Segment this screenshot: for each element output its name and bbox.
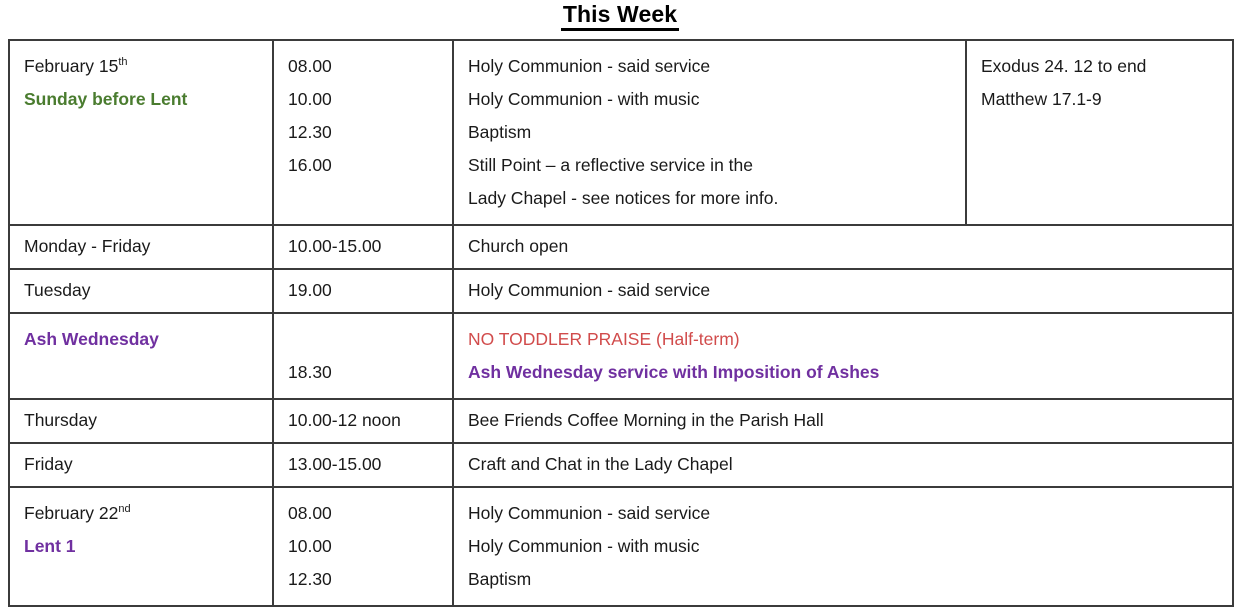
event-line: Still Point – a reflective service in th…: [468, 149, 965, 182]
event-line: Baptism: [468, 563, 1232, 596]
day-line-season: Ash Wednesday: [24, 323, 272, 356]
event-cell: Bee Friends Coffee Morning in the Parish…: [453, 399, 1233, 443]
table-row: Monday - Friday 10.00-15.00 Church open: [9, 225, 1233, 269]
time-cell: 10.00-12 noon: [273, 399, 453, 443]
day-cell: Tuesday: [9, 269, 273, 313]
time-line: 10.00: [288, 530, 452, 563]
event-line: Church open: [468, 231, 1232, 262]
event-line: Holy Communion - said service: [468, 50, 965, 83]
schedule-table-body: February 15th Sunday before Lent 08.00 1…: [9, 40, 1233, 606]
day-cell: Monday - Friday: [9, 225, 273, 269]
time-line-blank: [288, 323, 452, 356]
time-line: 18.30: [288, 356, 452, 389]
day-line: Friday: [24, 449, 272, 480]
table-row: Ash Wednesday 18.30 NO TODDLER PRAISE (H…: [9, 313, 1233, 399]
event-line-notice: NO TODDLER PRAISE (Half-term): [468, 323, 1232, 356]
time-line: 10.00: [288, 83, 452, 116]
day-line: Thursday: [24, 405, 272, 436]
event-line: Lady Chapel - see notices for more info.: [468, 182, 965, 215]
reading-line: Matthew 17.1-9: [981, 83, 1232, 116]
reading-cell: Exodus 24. 12 to end Matthew 17.1-9: [966, 40, 1233, 225]
event-cell: Holy Communion - said service Holy Commu…: [453, 487, 1233, 606]
time-line: 08.00: [288, 497, 452, 530]
time-cell: 10.00-15.00: [273, 225, 453, 269]
time-cell: 08.00 10.00 12.30: [273, 487, 453, 606]
table-row: February 15th Sunday before Lent 08.00 1…: [9, 40, 1233, 225]
day-cell: Friday: [9, 443, 273, 487]
day-line: Monday - Friday: [24, 231, 272, 262]
event-line: Baptism: [468, 116, 965, 149]
time-cell: 13.00-15.00: [273, 443, 453, 487]
day-line: February 15th: [24, 50, 272, 83]
ordinal-suffix: nd: [118, 503, 130, 515]
event-line: Holy Communion - said service: [468, 497, 1232, 530]
day-line: February 22nd: [24, 497, 272, 530]
event-line: Holy Communion - said service: [468, 275, 1232, 306]
day-cell: February 22nd Lent 1: [9, 487, 273, 606]
table-row: Tuesday 19.00 Holy Communion - said serv…: [9, 269, 1233, 313]
event-cell: Church open: [453, 225, 1233, 269]
time-cell: 18.30: [273, 313, 453, 399]
ordinal-suffix: th: [118, 56, 127, 68]
time-line: 10.00-12 noon: [288, 405, 452, 436]
table-row: February 22nd Lent 1 08.00 10.00 12.30 H…: [9, 487, 1233, 606]
event-line: Holy Communion - with music: [468, 83, 965, 116]
day-cell: Thursday: [9, 399, 273, 443]
page-title: This Week: [561, 0, 679, 31]
table-row: Thursday 10.00-12 noon Bee Friends Coffe…: [9, 399, 1233, 443]
event-cell: NO TODDLER PRAISE (Half-term) Ash Wednes…: [453, 313, 1233, 399]
day-cell: Ash Wednesday: [9, 313, 273, 399]
event-cell: Holy Communion - said service Holy Commu…: [453, 40, 966, 225]
table-row: Friday 13.00-15.00 Craft and Chat in the…: [9, 443, 1233, 487]
time-line: 12.30: [288, 563, 452, 596]
schedule-table: February 15th Sunday before Lent 08.00 1…: [8, 39, 1234, 607]
day-cell: February 15th Sunday before Lent: [9, 40, 273, 225]
time-line: 16.00: [288, 149, 452, 182]
reading-line: Exodus 24. 12 to end: [981, 50, 1232, 83]
time-line: 10.00-15.00: [288, 231, 452, 262]
time-line: 19.00: [288, 275, 452, 306]
time-line: 08.00: [288, 50, 452, 83]
event-line: Bee Friends Coffee Morning in the Parish…: [468, 405, 1232, 436]
day-line-season: Sunday before Lent: [24, 83, 272, 116]
event-cell: Holy Communion - said service: [453, 269, 1233, 313]
event-line-highlight: Ash Wednesday service with Imposition of…: [468, 356, 1232, 389]
time-line: 12.30: [288, 116, 452, 149]
page-title-container: This Week: [0, 0, 1240, 31]
event-cell: Craft and Chat in the Lady Chapel: [453, 443, 1233, 487]
event-line: Holy Communion - with music: [468, 530, 1232, 563]
day-line-season: Lent 1: [24, 530, 272, 563]
weekly-schedule-page: This Week February 15th Sunday before Le…: [0, 0, 1240, 566]
event-line: Craft and Chat in the Lady Chapel: [468, 449, 1232, 480]
time-line: 13.00-15.00: [288, 449, 452, 480]
time-cell: 19.00: [273, 269, 453, 313]
day-line: Tuesday: [24, 275, 272, 306]
time-cell: 08.00 10.00 12.30 16.00: [273, 40, 453, 225]
